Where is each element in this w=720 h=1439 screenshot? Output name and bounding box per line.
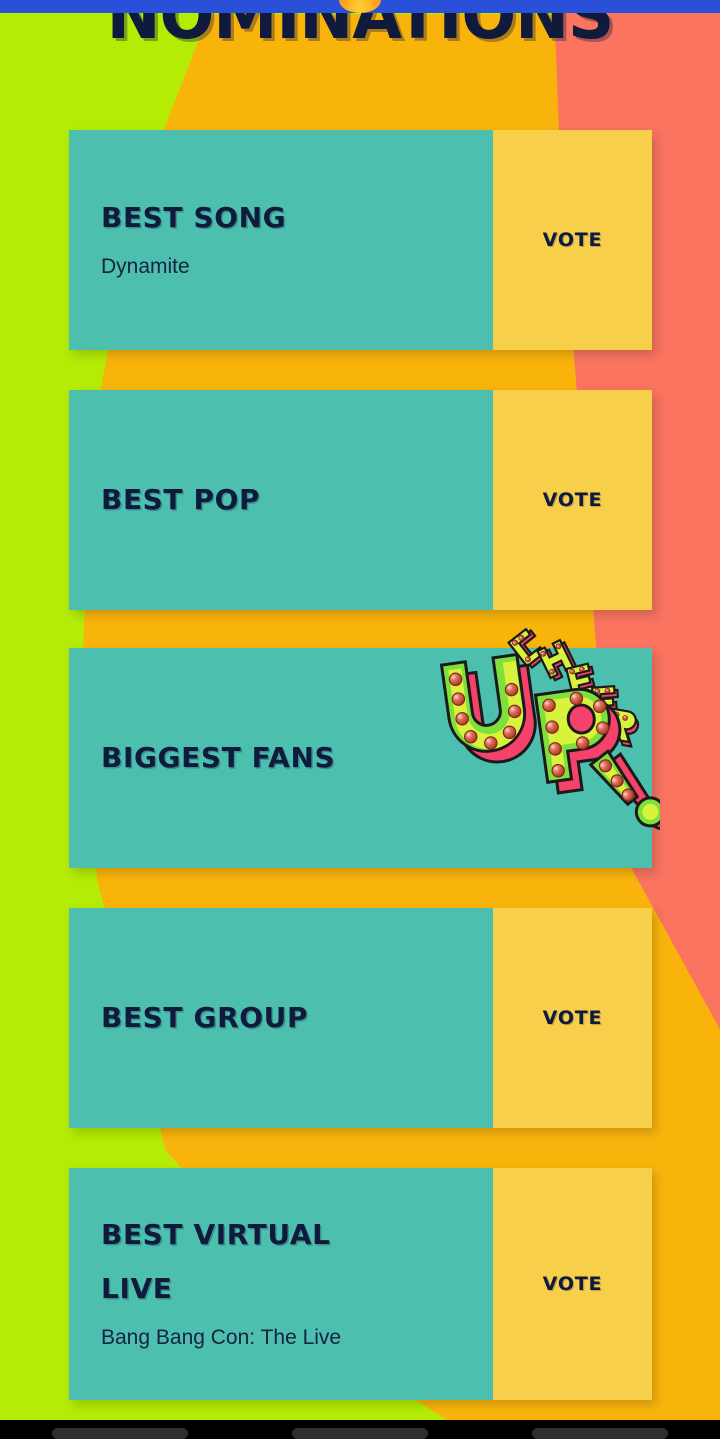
nomination-card-best-song[interactable]: BEST SONG Dynamite VOTE bbox=[69, 130, 652, 350]
card-body: BEST VIRTUAL LIVE Bang Bang Con: The Liv… bbox=[69, 1168, 493, 1400]
card-nominee-name: Dynamite bbox=[101, 245, 493, 289]
card-body: BEST SONG Dynamite bbox=[69, 130, 493, 350]
status-bar bbox=[0, 0, 720, 13]
nominations-list: BEST SONG Dynamite VOTE BEST POP VOTE BI… bbox=[0, 0, 720, 1420]
card-body: BEST GROUP bbox=[69, 908, 493, 1128]
card-category-title: BEST POP bbox=[101, 473, 493, 527]
card-category-title: BEST GROUP bbox=[101, 991, 493, 1045]
nomination-card-biggest-fans[interactable]: BIGGEST FANS bbox=[69, 648, 652, 868]
card-category-title-line2: LIVE bbox=[101, 1262, 493, 1316]
back-pill[interactable] bbox=[532, 1428, 668, 1439]
vote-button[interactable]: VOTE bbox=[493, 1168, 652, 1400]
card-nominee-name: Bang Bang Con: The Live bbox=[101, 1316, 493, 1360]
vote-button[interactable]: VOTE bbox=[493, 390, 652, 610]
recents-pill[interactable] bbox=[52, 1428, 188, 1439]
nominations-screen: NOMINATIONS BEST SONG Dynamite VOTE BEST… bbox=[0, 0, 720, 1439]
system-navigation-bar[interactable] bbox=[0, 1420, 720, 1439]
nomination-card-best-virtual-live[interactable]: BEST VIRTUAL LIVE Bang Bang Con: The Liv… bbox=[69, 1168, 652, 1400]
nomination-card-best-group[interactable]: BEST GROUP VOTE bbox=[69, 908, 652, 1128]
card-category-title: BIGGEST FANS bbox=[101, 731, 652, 785]
card-body: BIGGEST FANS bbox=[69, 648, 652, 868]
vote-button[interactable]: VOTE bbox=[493, 908, 652, 1128]
card-category-title-line1: BEST VIRTUAL bbox=[101, 1208, 493, 1262]
nomination-card-best-pop[interactable]: BEST POP VOTE bbox=[69, 390, 652, 610]
card-body: BEST POP bbox=[69, 390, 493, 610]
home-pill[interactable] bbox=[292, 1428, 428, 1439]
sun-badge-icon bbox=[339, 0, 381, 13]
card-category-title: BEST SONG bbox=[101, 191, 493, 245]
vote-button[interactable]: VOTE bbox=[493, 130, 652, 350]
